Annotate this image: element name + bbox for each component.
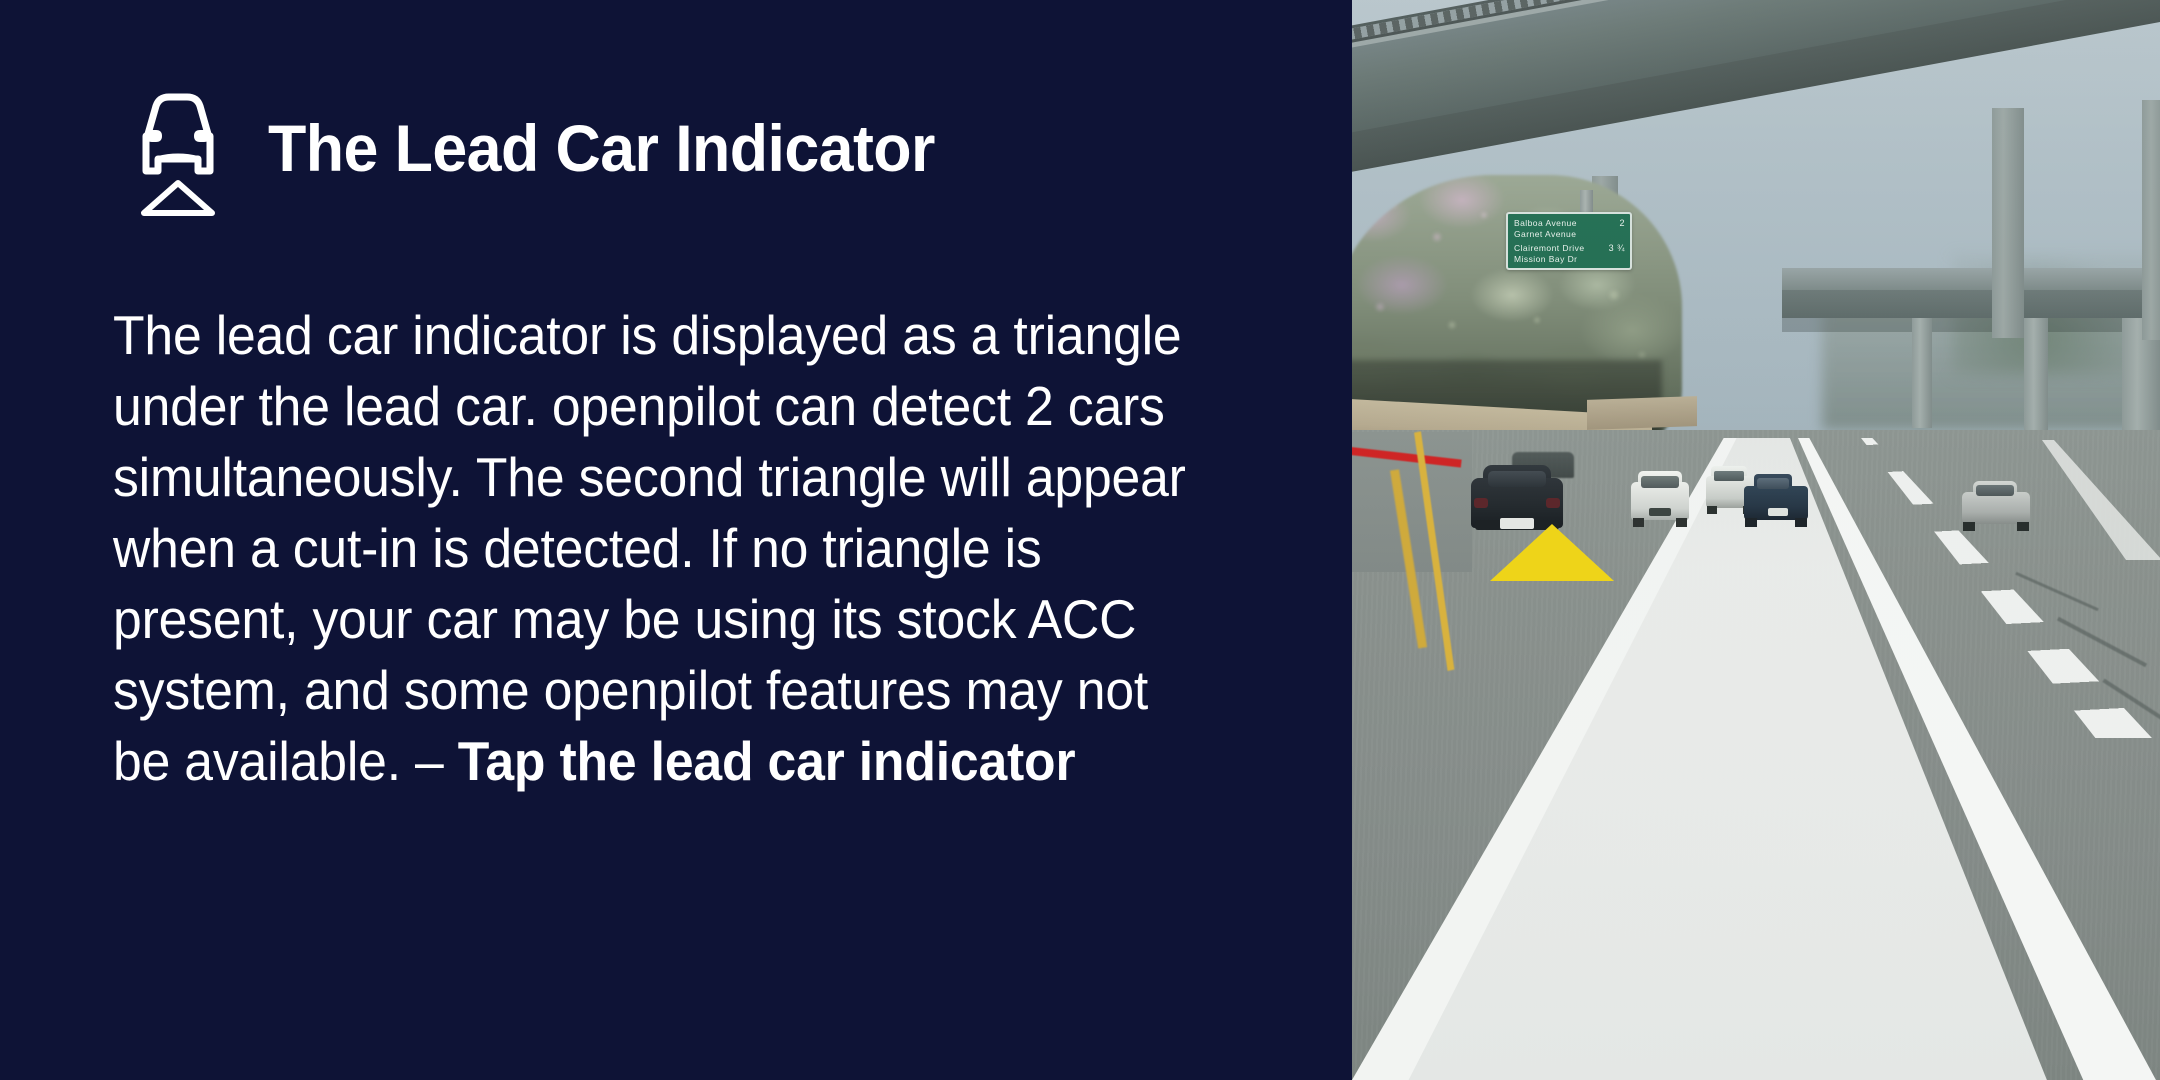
vehicle-rear-window (1714, 471, 1744, 481)
highway-sign-destination: Balboa Avenue (1514, 218, 1577, 229)
secondary-overpass-column (2024, 318, 2048, 430)
vehicle-rear-window (1641, 476, 1679, 488)
lead-car-indicator-icon (118, 86, 238, 216)
overpass-column (1992, 108, 2024, 338)
concrete-barrier-far (1587, 396, 1697, 430)
silver-suv (1960, 478, 2032, 534)
highway-sign-line: Garnet Avenue (1514, 229, 1625, 240)
dark-blue-pickup (1742, 472, 1810, 530)
vehicle-rear-window (1976, 485, 2014, 496)
taillight-right (1546, 498, 1560, 508)
white-suv (1629, 470, 1691, 528)
highway-sign-distance: 2 (1614, 218, 1625, 229)
highway-sign-destination: Mission Bay Dr (1514, 254, 1577, 265)
vehicle-wheels (1633, 518, 1687, 527)
license-plate (1768, 508, 1788, 516)
highway-sign-destination: Garnet Avenue (1514, 229, 1576, 240)
vehicle-body (1962, 492, 2030, 524)
info-panel: The Lead Car Indicator The lead car indi… (0, 0, 1352, 1080)
lead-car-triangle-indicator[interactable] (1490, 524, 1614, 581)
body-main-text: The lead car indicator is displayed as a… (113, 304, 1186, 792)
highway-sign-line: Balboa Avenue 2 (1514, 218, 1625, 229)
driving-camera-photo: Balboa Avenue 2 Garnet Avenue Clairemont… (1352, 0, 2160, 1080)
license-plate (1649, 508, 1671, 516)
highway-sign-distance: 3 ¾ (1603, 243, 1625, 254)
highway-sign-destination: Clairemont Drive (1514, 243, 1585, 254)
vehicle-rear-window (1488, 471, 1546, 487)
body-cta-text: Tap the lead car indicator (458, 730, 1076, 792)
secondary-overpass-shadow (1782, 318, 2160, 332)
panel-body-text: The lead car indicator is displayed as a… (113, 300, 1199, 797)
highway-sign-line: Mission Bay Dr (1514, 254, 1625, 265)
highway-sign: Balboa Avenue 2 Garnet Avenue Clairemont… (1506, 212, 1632, 270)
vehicle-wheels (1963, 522, 2029, 531)
panel-header: The Lead Car Indicator (118, 86, 970, 216)
secondary-overpass-column (1912, 318, 1932, 428)
overpass-column (2142, 100, 2160, 340)
highway-sign-line: Clairemont Drive 3 ¾ (1514, 243, 1625, 254)
taillight-left (1474, 498, 1488, 508)
lead-car-indicator-screen: The Lead Car Indicator The lead car indi… (0, 0, 2160, 1080)
vehicle-rear-window (1757, 478, 1789, 489)
vehicle-wheels (1745, 518, 1807, 527)
page-title: The Lead Car Indicator (268, 115, 935, 187)
